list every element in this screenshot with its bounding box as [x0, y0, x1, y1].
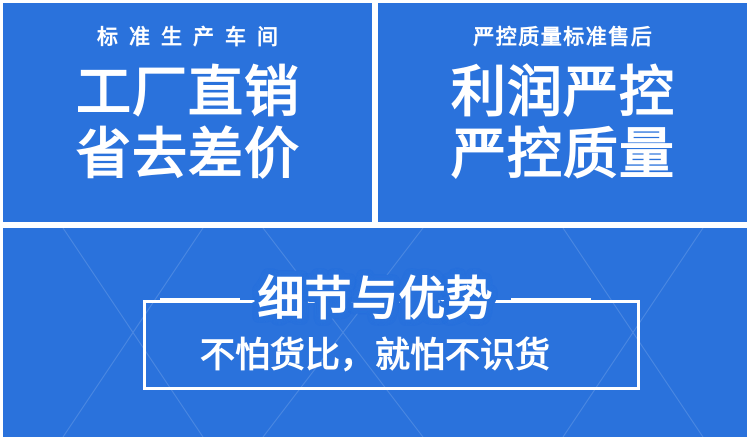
- panel-quality-control-kicker: 严控质量标准售后: [472, 27, 654, 48]
- details-advantages-title: 细节与优势: [258, 276, 493, 323]
- panel-quality-control-headline-line1: 利润严控: [450, 64, 675, 120]
- promo-banner: 标准生产车间 工厂直销 省去差价 严控质量标准售后 利润严控 严控质量: [0, 0, 750, 440]
- details-advantages-title-row: 细节与优势: [3, 272, 747, 326]
- decorative-line-right-icon: [511, 298, 591, 301]
- details-advantages-subtitle: 不怕货比，就怕不识货: [3, 339, 747, 374]
- decorative-line-left-icon: [160, 298, 240, 301]
- panel-factory-direct-headline-line1: 工厂直销: [75, 64, 300, 120]
- panel-details-advantages: 细节与优势 不怕货比，就怕不识货: [3, 228, 747, 437]
- panel-factory-direct-content: 标准生产车间 工厂直销 省去差价: [3, 3, 372, 222]
- panel-factory-direct-headline-line2: 省去差价: [75, 126, 300, 182]
- panel-factory-direct-kicker: 标准生产车间: [86, 27, 289, 48]
- panel-quality-control-headline-line2: 严控质量: [450, 126, 675, 182]
- panel-quality-control-content: 严控质量标准售后 利润严控 严控质量: [378, 3, 747, 222]
- panel-quality-control: 严控质量标准售后 利润严控 严控质量: [378, 3, 747, 222]
- panel-factory-direct: 标准生产车间 工厂直销 省去差价: [3, 3, 372, 222]
